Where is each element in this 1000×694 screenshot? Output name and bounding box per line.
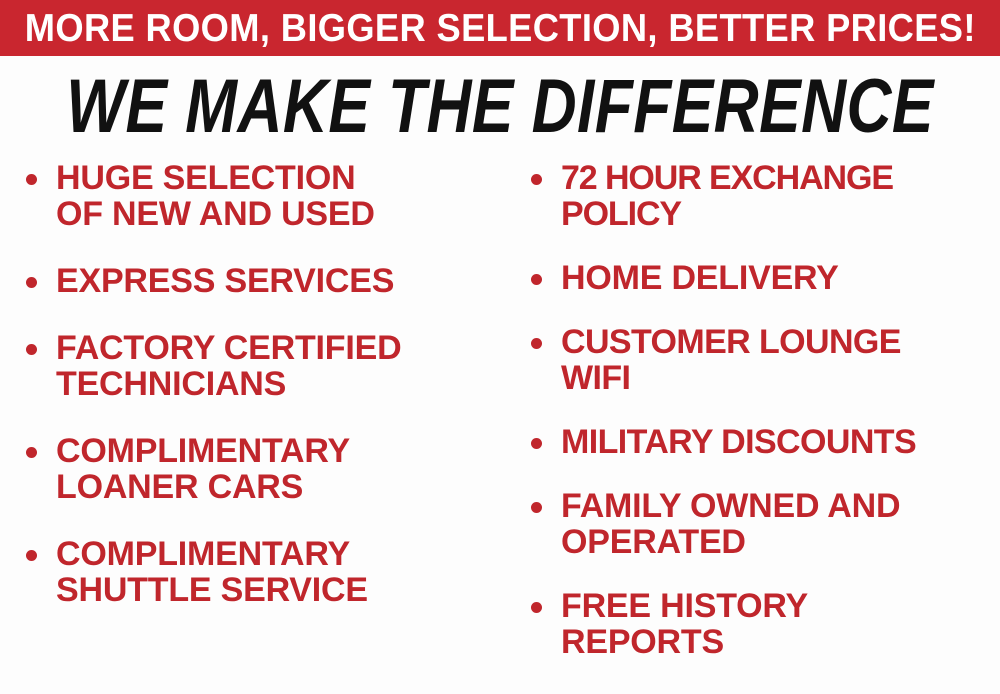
list-item: FACTORY CERTIFIED TECHNICIANS <box>18 330 505 402</box>
banner-headline-text: MORE ROOM, BIGGER SELECTION, BETTER PRIC… <box>24 9 975 48</box>
list-item: CUSTOMER LOUNGE WIFI <box>523 324 1000 396</box>
benefits-columns: HUGE SELECTION OF NEW AND USED EXPRESS S… <box>0 160 1000 694</box>
list-item: MILITARY DISCOUNTS <box>523 424 1000 460</box>
benefit-list-right: 72 HOUR EXCHANGE POLICY HOME DELIVERY CU… <box>523 160 1000 660</box>
headline-container: WE MAKE THE DIFFERENCE <box>0 62 1000 152</box>
list-item: HUGE SELECTION OF NEW AND USED <box>18 160 505 232</box>
benefits-column-right: 72 HOUR EXCHANGE POLICY HOME DELIVERY CU… <box>505 160 1000 688</box>
list-item: COMPLIMENTARY LOANER CARS <box>18 433 505 505</box>
list-item: COMPLIMENTARY SHUTTLE SERVICE <box>18 536 505 608</box>
list-item: EXPRESS SERVICES <box>18 263 505 299</box>
top-banner: MORE ROOM, BIGGER SELECTION, BETTER PRIC… <box>0 0 1000 56</box>
benefit-list-left: HUGE SELECTION OF NEW AND USED EXPRESS S… <box>18 160 505 608</box>
list-item: HOME DELIVERY <box>523 260 1000 296</box>
page-title: WE MAKE THE DIFFERENCE <box>66 69 934 145</box>
list-item: FREE HISTORY REPORTS <box>523 588 1000 660</box>
list-item: FAMILY OWNED AND OPERATED <box>523 488 1000 560</box>
benefits-column-left: HUGE SELECTION OF NEW AND USED EXPRESS S… <box>0 160 505 639</box>
promo-poster: MORE ROOM, BIGGER SELECTION, BETTER PRIC… <box>0 0 1000 694</box>
list-item: 72 HOUR EXCHANGE POLICY <box>523 160 1000 232</box>
